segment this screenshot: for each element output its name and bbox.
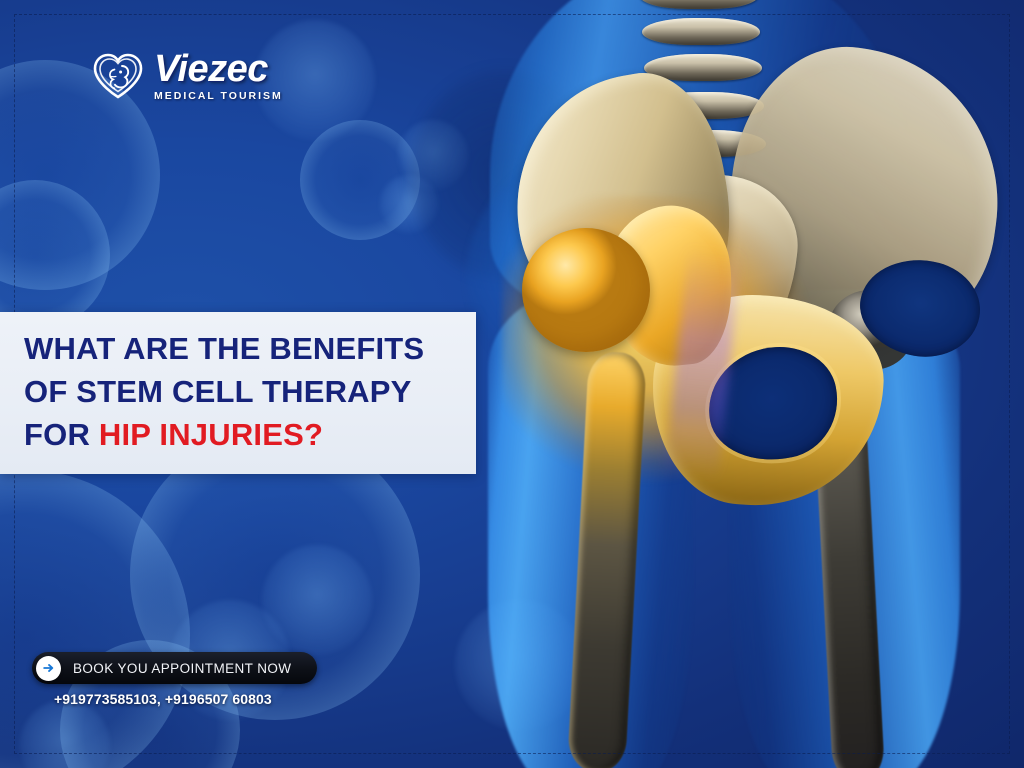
headline-line-2: OF STEM CELL THERAPY (24, 371, 476, 414)
bokeh-circle (0, 180, 110, 330)
cta-block: BOOK YOU APPOINTMENT NOW +919773585103, … (32, 652, 317, 707)
bokeh-circle (0, 470, 190, 768)
arrow-right-circle-icon (36, 656, 61, 681)
hip-anatomy-illustration (430, 0, 1024, 768)
headline-accent: HIP INJURIES? (99, 417, 323, 452)
cta-label: BOOK YOU APPOINTMENT NOW (73, 661, 291, 676)
left-femoral-head (522, 228, 650, 352)
brand-logo[interactable]: Viezec MEDICAL TOURISM (92, 50, 283, 102)
promotional-banner: Viezec MEDICAL TOURISM WHAT ARE THE BENE… (0, 0, 1024, 768)
bokeh-circle (20, 700, 110, 768)
headline-line-3-prefix: FOR (24, 417, 99, 452)
bokeh-circle (262, 545, 372, 655)
contact-phone[interactable]: +919773585103, +9196507 60803 (32, 691, 317, 707)
bokeh-circle (300, 120, 420, 240)
brand-name: Viezec (154, 50, 283, 88)
headline-line-3: FOR HIP INJURIES? (24, 414, 476, 457)
brand-tagline: MEDICAL TOURISM (154, 91, 283, 102)
book-appointment-button[interactable]: BOOK YOU APPOINTMENT NOW (32, 652, 317, 684)
heart-embryo-icon (92, 51, 144, 101)
headline-banner: WHAT ARE THE BENEFITS OF STEM CELL THERA… (0, 312, 476, 474)
headline-line-1: WHAT ARE THE BENEFITS (24, 328, 476, 371)
